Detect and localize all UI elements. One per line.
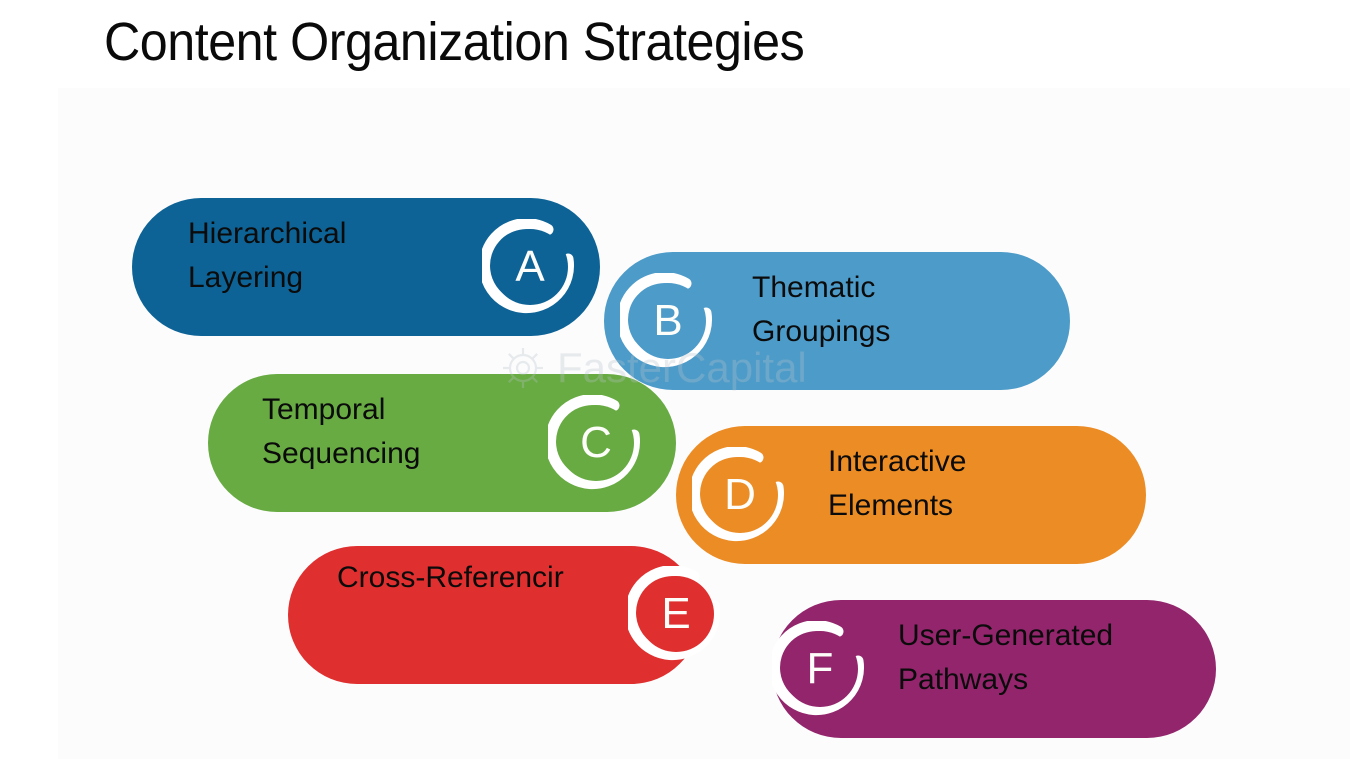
badge-letter-c: C: [558, 405, 634, 481]
strategy-label-f: User-Generated Pathways: [898, 614, 1198, 703]
strategy-badge-d[interactable]: D: [692, 447, 788, 543]
badge-letter-d: D: [702, 457, 778, 533]
infographic-slide: Content Organization Strategies Hierarch…: [0, 0, 1350, 759]
strategy-label-c: Temporal Sequencing: [262, 388, 562, 477]
strategy-badge-c[interactable]: C: [548, 395, 644, 491]
strategy-badge-b[interactable]: B: [620, 273, 716, 369]
strategy-label-e: Cross-Referencir: [337, 556, 607, 600]
badge-letter-a: A: [492, 229, 568, 305]
strategy-label-d: Interactive Elements: [828, 440, 1128, 529]
strategy-badge-e[interactable]: E: [628, 566, 724, 662]
strategy-label-a: Hierarchical Layering: [188, 212, 478, 301]
page-title: Content Organization Strategies: [104, 14, 804, 71]
strategy-badge-f[interactable]: F: [772, 621, 868, 717]
badge-letter-f: F: [782, 631, 858, 707]
badge-letter-e: E: [638, 576, 714, 652]
strategy-label-b: Thematic Groupings: [752, 266, 1052, 355]
strategy-badge-a[interactable]: A: [482, 219, 578, 315]
badge-letter-b: B: [630, 283, 706, 359]
